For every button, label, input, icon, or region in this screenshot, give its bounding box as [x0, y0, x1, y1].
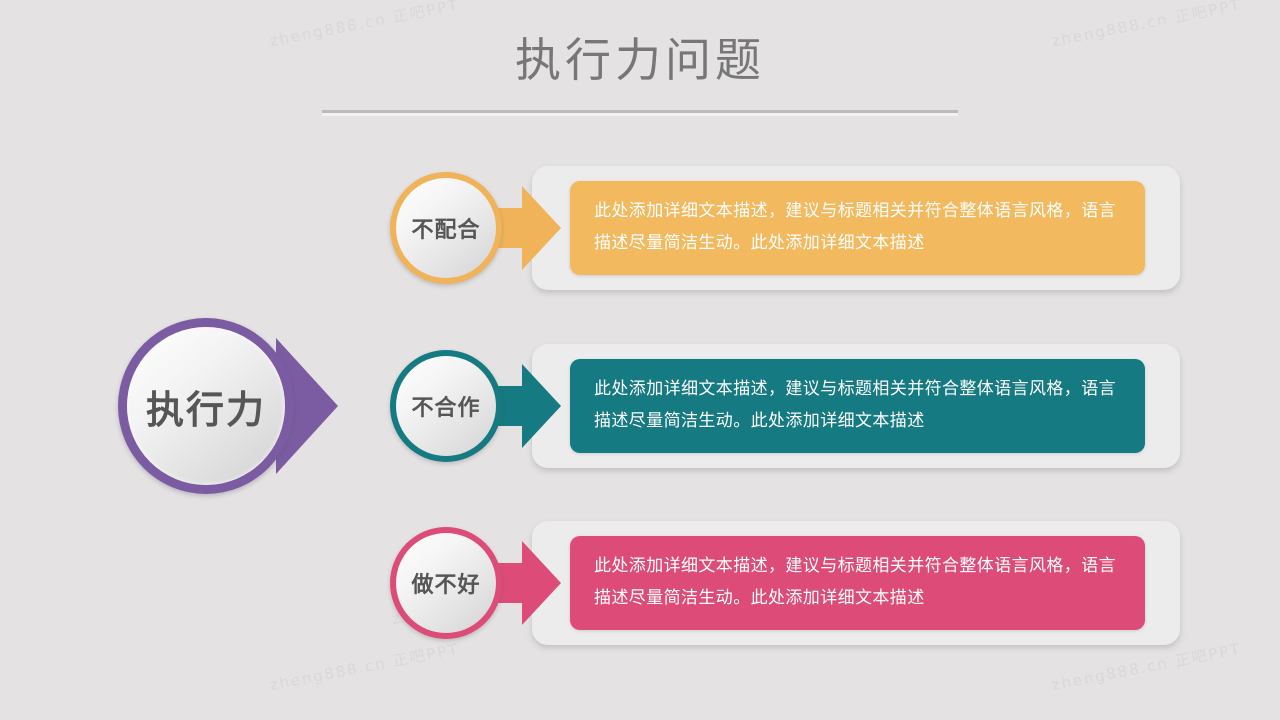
row-2-panel-text: 此处添加详细文本描述，建议与标题相关并符合整体语言风格，语言描述尽量简洁生动。此… [594, 373, 1123, 437]
row-2-node-face: 不合作 [396, 356, 496, 456]
row-3-panel[interactable]: 此处添加详细文本描述，建议与标题相关并符合整体语言风格，语言描述尽量简洁生动。此… [570, 536, 1145, 630]
diagram-row-3: 做不好 此处添加详细文本描述，建议与标题相关并符合整体语言风格，语言描述尽量简洁… [390, 521, 1180, 645]
slide-title: 执行力问题 [0, 32, 1280, 90]
row-1-node-face: 不配合 [396, 178, 496, 278]
watermark-bottom-left: zheng888.cn 正吧PPT [268, 638, 461, 695]
hub-circle[interactable]: 执行力 [118, 318, 294, 494]
row-1-panel[interactable]: 此处添加详细文本描述，建议与标题相关并符合整体语言风格，语言描述尽量简洁生动。此… [570, 181, 1145, 275]
row-2-node-label: 不合作 [411, 390, 480, 422]
row-3-node-label: 做不好 [411, 567, 480, 599]
row-2-panel[interactable]: 此处添加详细文本描述，建议与标题相关并符合整体语言风格，语言描述尽量简洁生动。此… [570, 359, 1145, 453]
diagram-row-2: 不合作 此处添加详细文本描述，建议与标题相关并符合整体语言风格，语言描述尽量简洁… [390, 344, 1180, 468]
row-1-panel-text: 此处添加详细文本描述，建议与标题相关并符合整体语言风格，语言描述尽量简洁生动。此… [594, 195, 1123, 259]
watermark-bottom-right: zheng888.cn 正吧PPT [1050, 638, 1243, 695]
row-3-node-face: 做不好 [396, 533, 496, 633]
page-title: 执行力问题 [515, 32, 765, 90]
row-1-node-label: 不配合 [411, 212, 480, 244]
diagram-row-1: 不配合 此处添加详细文本描述，建议与标题相关并符合整体语言风格，语言描述尽量简洁… [390, 166, 1180, 290]
row-3-panel-text: 此处添加详细文本描述，建议与标题相关并符合整体语言风格，语言描述尽量简洁生动。此… [594, 550, 1123, 614]
row-3-node-circle[interactable]: 做不好 [390, 527, 502, 639]
title-divider [322, 110, 958, 116]
row-1-node-circle[interactable]: 不配合 [390, 172, 502, 284]
hub-label: 执行力 [146, 379, 266, 434]
hub-face: 执行力 [127, 327, 285, 485]
row-2-node-circle[interactable]: 不合作 [390, 350, 502, 462]
